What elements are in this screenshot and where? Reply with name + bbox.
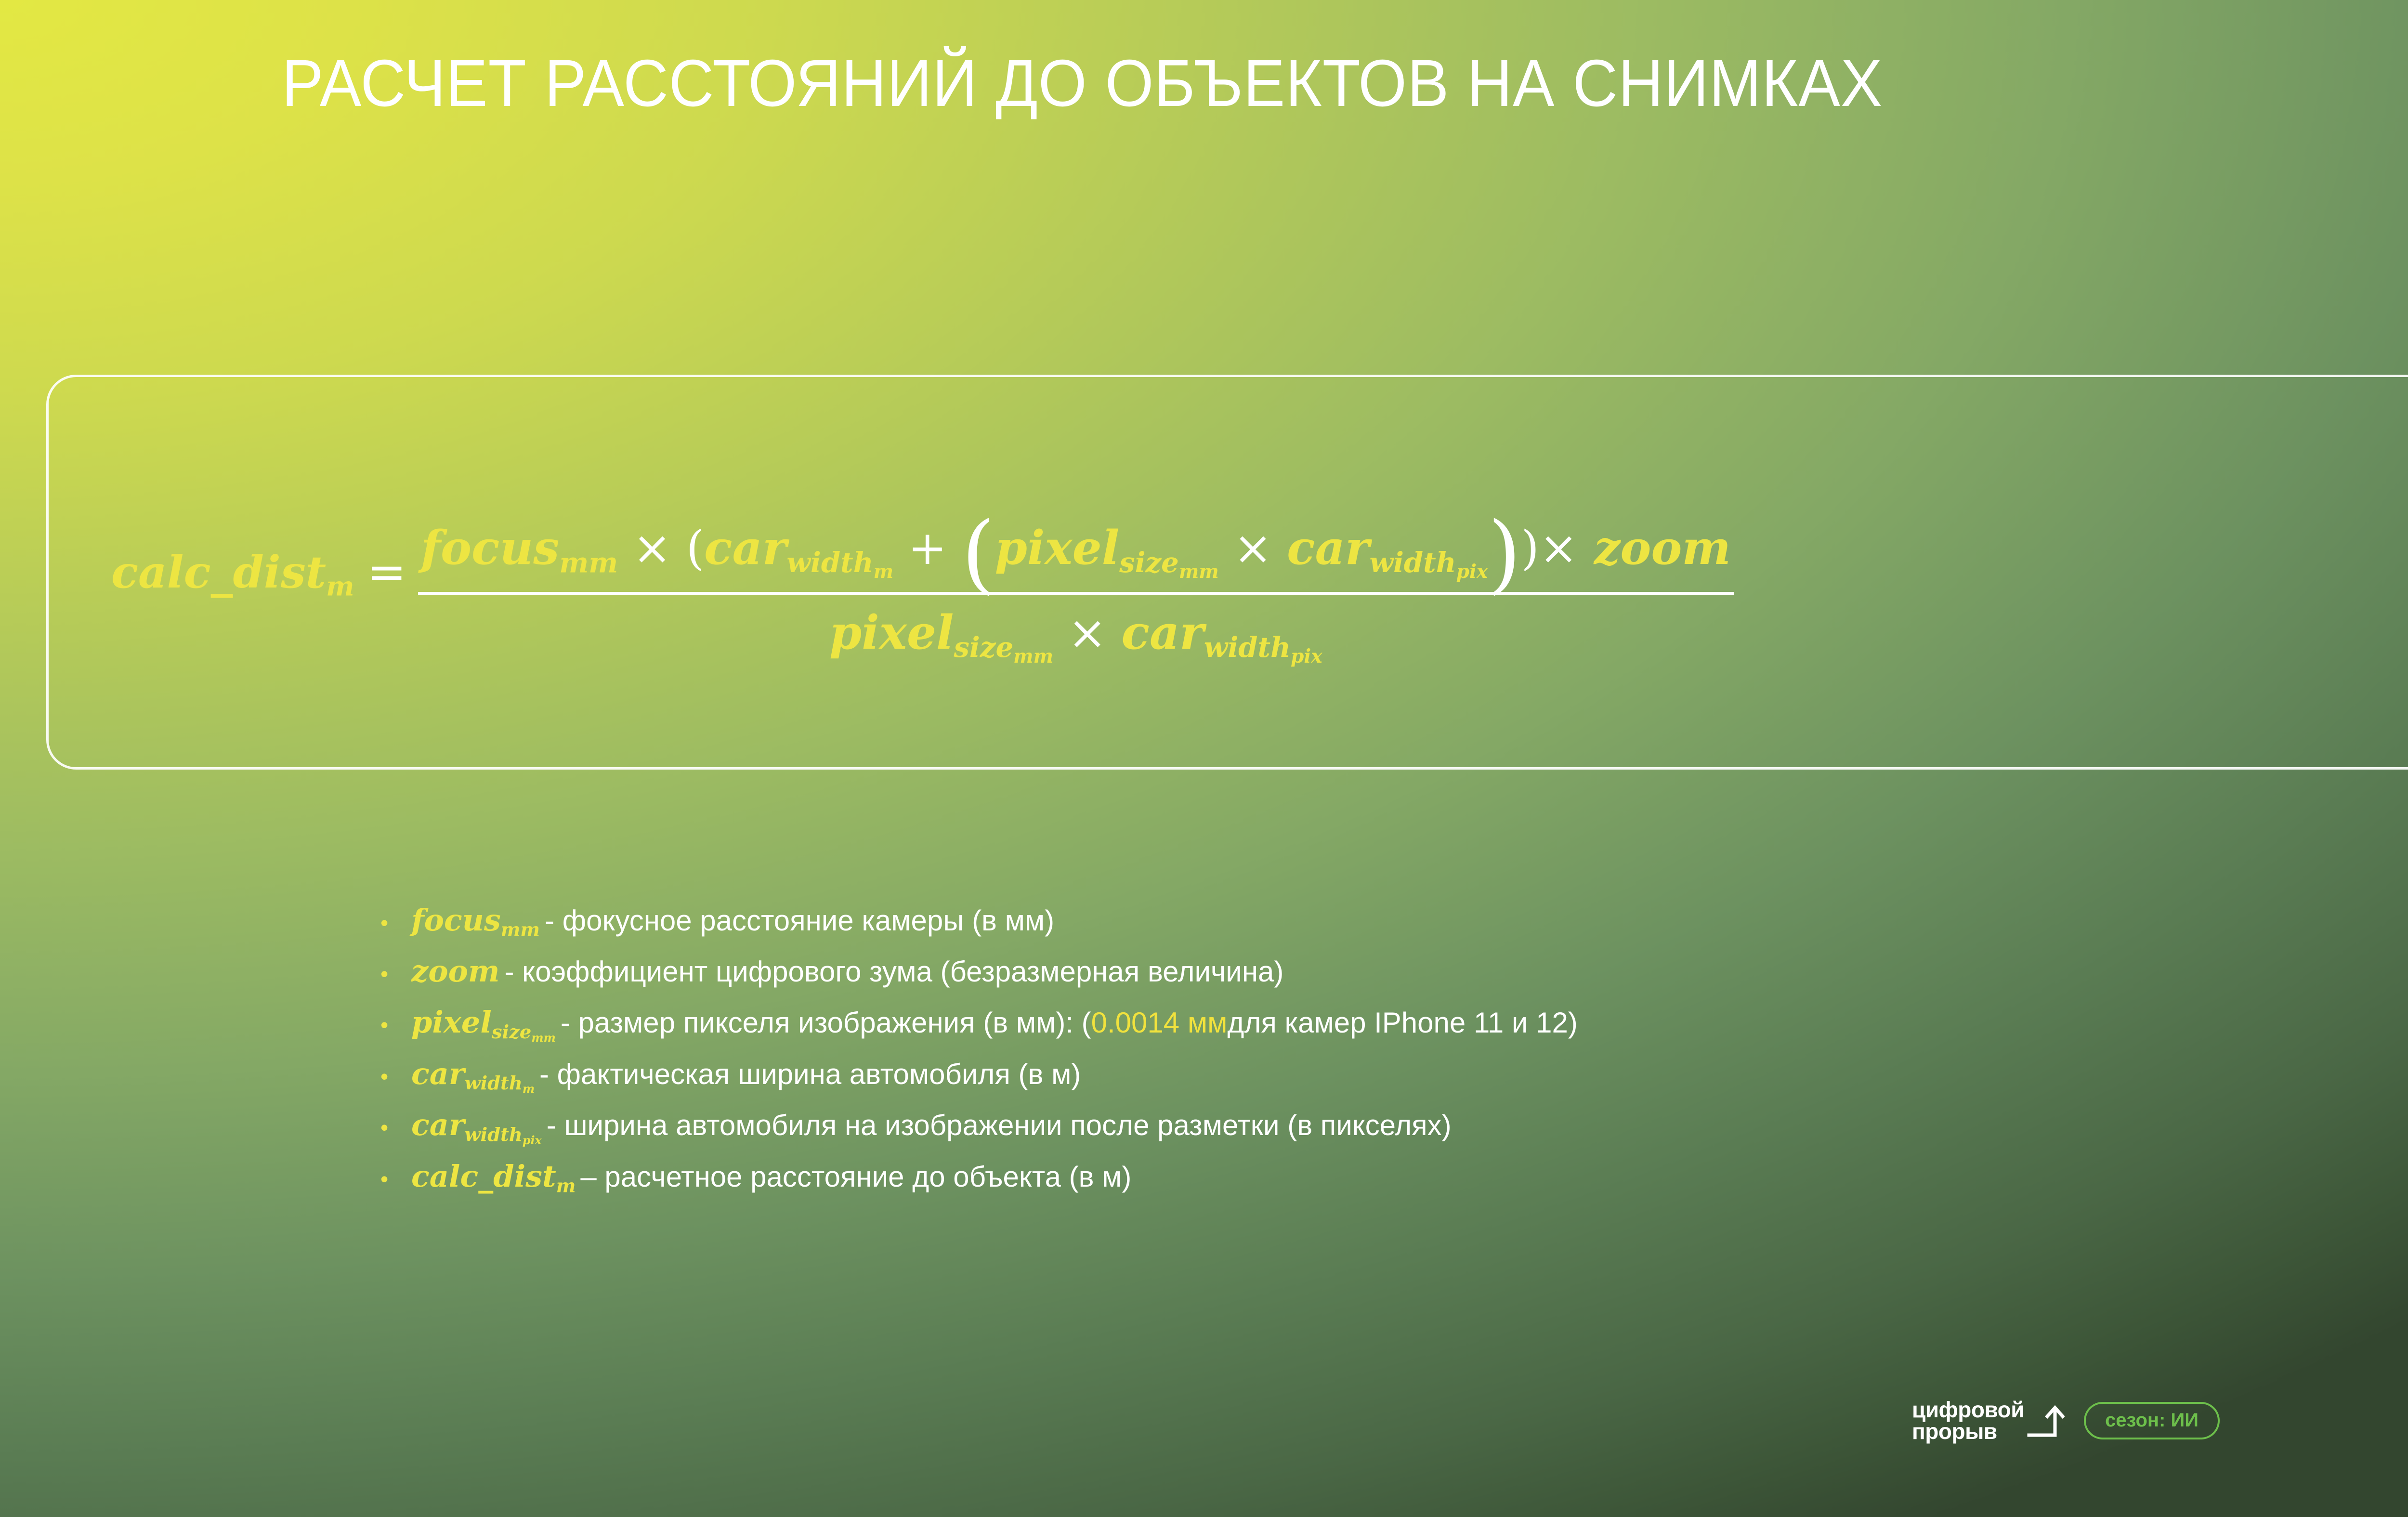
bullet-dot-icon: • <box>380 912 411 934</box>
fraction: focusmm × (carwidthm + (pixelsizemm × ca… <box>418 484 1734 660</box>
bullet-dot-icon: • <box>380 1116 411 1138</box>
equals-sign: = <box>367 545 406 600</box>
slide-root: РАСЧЕТ РАССТОЯНИЙ ДО ОБЪЕКТОВ НА СНИМКАХ… <box>0 0 2408 1517</box>
list-item: • carwidthpix - ширина автомобиля на изо… <box>380 1110 2403 1140</box>
brand-logo: цифровой прорыв сезон: ИИ <box>1912 1399 2220 1442</box>
list-item: • carwidthm - фактическая ширина автомоб… <box>380 1059 2403 1089</box>
legend-description: – расчетное расстояние до объекта (в м) <box>580 1163 1131 1191</box>
den-car-width-pix: carwidthpix <box>1122 605 1322 660</box>
formula-expression: calc_distm = focusmm × (carwidthm + (pix… <box>49 377 2408 767</box>
num-zoom: zoom <box>1578 521 1731 575</box>
legend-description-tail: для камер IPhone 11 и 12) <box>1227 1008 1577 1037</box>
arrow-up-icon <box>2027 1402 2065 1439</box>
num-open-paren: ( <box>686 521 704 575</box>
legend-term: focusmm <box>411 905 540 935</box>
page-title: РАСЧЕТ РАССТОЯНИЙ ДО ОБЪЕКТОВ НА СНИМКАХ <box>282 50 1883 117</box>
legend-description: - ширина автомобиля на изображении после… <box>547 1111 1452 1140</box>
num-times-1: × <box>618 521 686 575</box>
fraction-numerator: focusmm × (carwidthm + (pixelsizemm × ca… <box>418 484 1734 592</box>
num-pixel-size-mm: pixelsizemm <box>995 521 1219 575</box>
list-item: • focusmm - фокусное расстояние камеры (… <box>380 905 2403 935</box>
lhs-variable: calc_dist <box>111 546 326 598</box>
legend-description: - фактическая ширина автомобиля (в м) <box>539 1060 1081 1089</box>
bullet-dot-icon: • <box>380 963 411 985</box>
num-close-paren: ) <box>1521 521 1539 575</box>
list-item: • calc_distm – расчетное расстояние до о… <box>380 1162 2403 1191</box>
legend-description: - коэффициент цифрового зума (безразмерн… <box>505 957 1284 986</box>
brand-logo-line-1: цифровой <box>1912 1399 2024 1421</box>
num-focus: focusmm <box>421 521 618 575</box>
legend-description: - размер пикселя изображения (в мм): ( <box>561 1008 1091 1037</box>
status-badge: сезон: ИИ <box>2084 1402 2220 1439</box>
num-open-paren-2: ( <box>962 503 995 603</box>
legend-description: - фокусное расстояние камеры (в мм) <box>545 906 1054 935</box>
legend-term: pixelsizemm <box>411 1007 556 1038</box>
legend-term: zoom <box>411 956 500 986</box>
num-times-3: × <box>1539 521 1578 575</box>
bullet-dot-icon: • <box>380 1014 411 1036</box>
list-item: • zoom - коэффициент цифрового зума (без… <box>380 956 2403 986</box>
num-close-paren-2: ) <box>1488 503 1521 603</box>
brand-logo-text: цифровой прорыв <box>1912 1399 2024 1442</box>
num-car-width-pix: carwidthpix <box>1287 521 1488 575</box>
fraction-denominator: pixelsizemm × carwidthpix <box>826 595 1325 660</box>
lhs-subscript: m <box>326 571 354 602</box>
legend-term: calc_distm <box>411 1162 576 1191</box>
formula-left-hand-side: calc_distm <box>111 546 354 598</box>
bullet-dot-icon: • <box>380 1065 411 1087</box>
brand-logo-line-2: прорыв <box>1912 1421 2024 1442</box>
num-plus: + <box>893 521 961 575</box>
den-times: × <box>1053 606 1121 660</box>
list-item: • pixelsizemm - размер пикселя изображен… <box>380 1007 2403 1038</box>
legend-list: • focusmm - фокусное расстояние камеры (… <box>380 905 2403 1213</box>
bullet-dot-icon: • <box>380 1168 411 1190</box>
legend-term: carwidthpix <box>411 1110 542 1140</box>
num-times-2: × <box>1219 521 1287 575</box>
formula-card: calc_distm = focusmm × (carwidthm + (pix… <box>46 375 2408 770</box>
num-car-width-m: carwidthm <box>704 521 893 575</box>
legend-term: carwidthm <box>411 1059 535 1089</box>
legend-highlight-value: 0.0014 мм <box>1091 1008 1228 1037</box>
den-pixel-size-mm: pixelsizemm <box>829 605 1053 660</box>
